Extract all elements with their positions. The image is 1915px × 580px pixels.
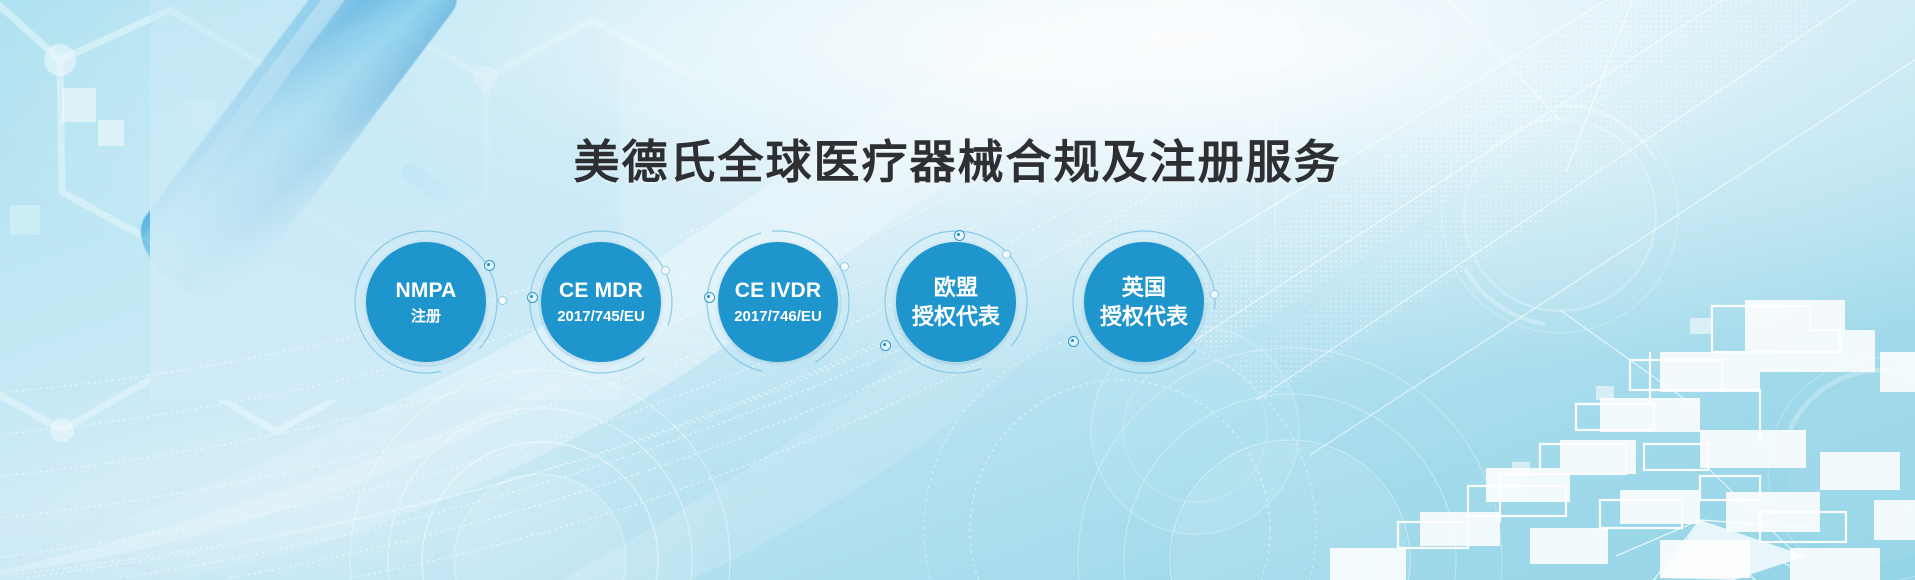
badge-node-dot	[484, 260, 495, 271]
badge-node-dot	[1068, 336, 1079, 347]
badge-node-dot-small	[840, 262, 849, 271]
hero-banner: 美德氏全球医疗器械合规及注册服务 NMPA 注册 CE M	[0, 0, 1915, 580]
service-badge-ce-ivdr[interactable]: CE IVDR 2017/746/EU	[712, 236, 844, 368]
service-badge-uk-ar[interactable]: 英国 授权代表	[1078, 236, 1210, 368]
badge-line2: 注册	[411, 308, 441, 326]
badge-line2: 2017/746/EU	[734, 308, 822, 326]
badge-node-dot	[704, 292, 715, 303]
badge-node-dot-small	[498, 296, 507, 305]
badge-disc-nmpa: NMPA 注册	[366, 242, 486, 362]
badge-line1: CE IVDR	[735, 279, 822, 304]
badge-line2: 授权代表	[912, 304, 1000, 330]
badge-node-dot	[880, 340, 891, 351]
service-badge-eu-ar[interactable]: 欧盟 授权代表	[890, 236, 1022, 368]
badge-node-dot	[527, 292, 538, 303]
badge-node-dot-small	[1002, 250, 1011, 259]
badge-line1: CE MDR	[559, 279, 643, 304]
badge-disc-ce-mdr: CE MDR 2017/745/EU	[541, 242, 661, 362]
badge-line1: 英国	[1122, 275, 1166, 301]
badge-line2: 授权代表	[1100, 304, 1188, 330]
service-badge-ce-mdr[interactable]: CE MDR 2017/745/EU	[535, 236, 667, 368]
badge-line1: NMPA	[395, 279, 456, 304]
service-badge-nmpa[interactable]: NMPA 注册	[360, 236, 492, 368]
badge-line2: 2017/745/EU	[557, 308, 645, 326]
badge-disc-eu-ar: 欧盟 授权代表	[896, 242, 1016, 362]
badge-disc-ce-ivdr: CE IVDR 2017/746/EU	[718, 242, 838, 362]
badge-node-dot-top	[954, 230, 965, 241]
badge-disc-uk-ar: 英国 授权代表	[1084, 242, 1204, 362]
service-badge-row: NMPA 注册 CE MDR 2017/745/EU	[0, 0, 1915, 580]
badge-node-dot-small	[661, 266, 670, 275]
badge-node-dot-small	[1210, 290, 1219, 299]
badge-line1: 欧盟	[934, 275, 978, 301]
